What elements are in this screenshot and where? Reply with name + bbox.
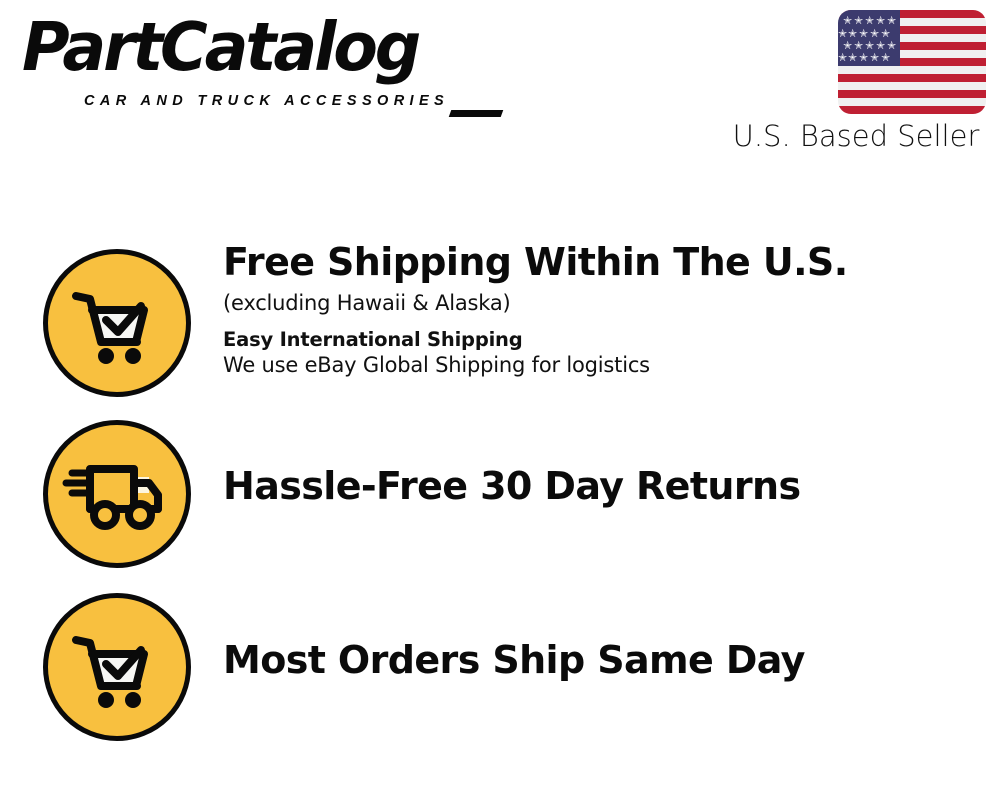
flag-stripe bbox=[838, 90, 986, 98]
feature-text-block: Most Orders Ship Same Day bbox=[223, 587, 963, 681]
brand-tagline: CAR AND TRUCK ACCESSORIES bbox=[84, 94, 449, 109]
feature-text-block: Hassle-Free 30 Day Returns bbox=[223, 414, 963, 507]
flag-stripe bbox=[838, 74, 986, 82]
us-based-seller-label: U.S. Based Seller bbox=[722, 119, 990, 153]
flag-stripe bbox=[838, 98, 986, 106]
flag-star-icon: ✭ bbox=[876, 16, 885, 27]
flag-star-icon: ✭ bbox=[876, 41, 885, 52]
feature-row: Hassle-Free 30 Day Returns bbox=[0, 414, 1000, 574]
flag-star-icon: ✭ bbox=[881, 29, 890, 40]
shopping-cart-check-icon bbox=[43, 249, 191, 397]
feature-heading: Free Shipping Within The U.S. bbox=[223, 243, 963, 283]
feature-subtext-international-detail: We use eBay Global Shipping for logistic… bbox=[223, 352, 963, 380]
brand-wordmark: PartCatalog bbox=[22, 14, 418, 81]
brand-logo[interactable]: PartCatalog CAR AND TRUCK ACCESSORIES bbox=[22, 18, 492, 118]
flag-star-icon: ✭ bbox=[887, 16, 896, 27]
flag-star-icon: ✭ bbox=[848, 29, 857, 40]
flag-star-icon: ✭ bbox=[865, 16, 874, 27]
flag-star-icon: ✭ bbox=[870, 29, 879, 40]
feature-subtext-international-title: Easy International Shipping bbox=[223, 327, 963, 353]
delivery-truck-icon bbox=[43, 420, 191, 568]
flag-stripe bbox=[838, 82, 986, 90]
flag-star-icon: ✭ bbox=[843, 41, 852, 52]
flag-star-icon: ✭ bbox=[854, 41, 863, 52]
flag-star-icon: ✭ bbox=[838, 53, 847, 64]
flag-star-icon: ✭ bbox=[881, 53, 890, 64]
flag-star-icon: ✭ bbox=[838, 29, 847, 40]
shopping-cart-check-icon bbox=[43, 593, 191, 741]
flag-stripe bbox=[838, 66, 986, 74]
flag-star-icon: ✭ bbox=[870, 53, 879, 64]
feature-heading: Most Orders Ship Same Day bbox=[223, 641, 963, 681]
flag-star-icon: ✭ bbox=[854, 16, 863, 27]
flag-star-icon: ✭ bbox=[887, 41, 896, 52]
page-header: PartCatalog CAR AND TRUCK ACCESSORIES ✭ … bbox=[0, 0, 1000, 165]
feature-text-block: Free Shipping Within The U.S. (excluding… bbox=[223, 243, 963, 380]
flag-star-icon: ✭ bbox=[859, 53, 868, 64]
flag-star-icon: ✭ bbox=[859, 29, 868, 40]
flag-canton: ✭ ✭ ✭ ✭ ✭ ✭ ✭ ✭ ✭ ✭ ✭ ✭ ✭ ✭ ✭ ✭ ✭ ✭ ✭ ✭ bbox=[838, 10, 900, 66]
us-flag-icon: ✭ ✭ ✭ ✭ ✭ ✭ ✭ ✭ ✭ ✭ ✭ ✭ ✭ ✭ ✭ ✭ ✭ ✭ ✭ ✭ bbox=[838, 10, 986, 114]
flag-star-icon: ✭ bbox=[843, 16, 852, 27]
feature-row: Most Orders Ship Same Day bbox=[0, 587, 1000, 747]
feature-subtext-exclusions: (excluding Hawaii & Alaska) bbox=[223, 290, 963, 318]
brand-underline-accent bbox=[449, 110, 504, 117]
flag-star-icon: ✭ bbox=[848, 53, 857, 64]
feature-heading: Hassle-Free 30 Day Returns bbox=[223, 467, 963, 507]
flag-star-icon: ✭ bbox=[865, 41, 874, 52]
feature-row: Free Shipping Within The U.S. (excluding… bbox=[0, 243, 1000, 403]
flag-stripe bbox=[838, 106, 986, 114]
